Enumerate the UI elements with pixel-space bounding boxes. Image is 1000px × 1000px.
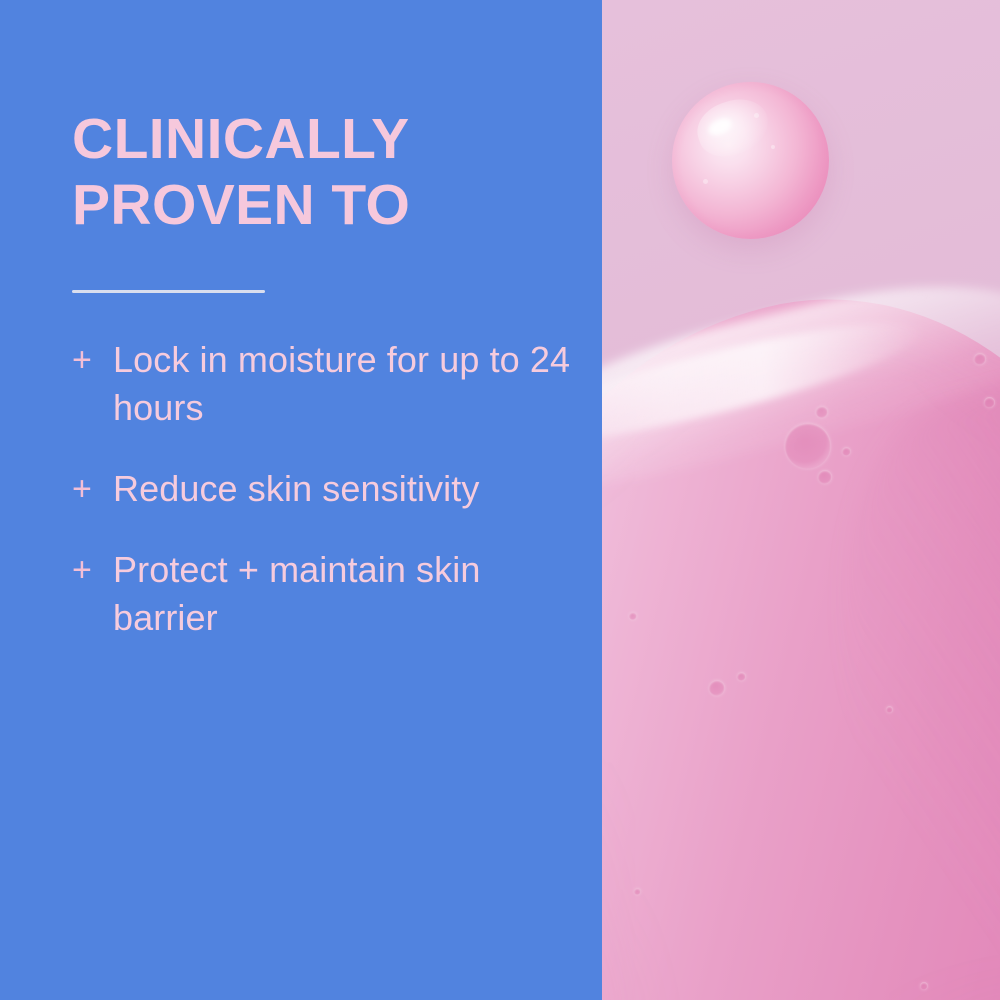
page-title-line-1: CLINICALLY	[72, 106, 552, 172]
sphere-bubble-speck	[771, 145, 775, 149]
gel-bubble	[818, 470, 832, 484]
page-title: CLINICALLY PROVEN TO	[72, 106, 552, 238]
gel-bubble	[920, 982, 928, 990]
gel-bubble	[737, 672, 746, 681]
gel-bubble	[709, 680, 725, 696]
page-title-line-2: PROVEN TO	[72, 172, 552, 238]
gel-bubble	[886, 706, 893, 713]
title-divider	[72, 290, 265, 293]
list-item-label: Reduce skin sensitivity	[113, 465, 572, 513]
gel-blob-swatch	[602, 236, 1000, 1000]
copy-panel: CLINICALLY PROVEN TO + Lock in moisture …	[0, 0, 602, 1000]
list-item: + Reduce skin sensitivity	[72, 465, 572, 513]
product-image-panel	[602, 0, 1000, 1000]
plus-marker-icon: +	[72, 465, 102, 513]
gel-bubble	[629, 612, 637, 620]
list-item-label: Protect + maintain skin barrier	[113, 546, 572, 642]
plus-marker-icon: +	[72, 546, 102, 594]
promo-canvas: CLINICALLY PROVEN TO + Lock in moisture …	[0, 0, 1000, 1000]
gel-bubble	[984, 397, 995, 408]
list-item-label: Lock in moisture for up to 24 hours	[113, 336, 572, 432]
plus-marker-icon: +	[72, 336, 102, 384]
gel-droplet-sphere-icon	[672, 82, 829, 239]
gel-bubble	[842, 447, 851, 456]
benefits-list: + Lock in moisture for up to 24 hours + …	[72, 336, 572, 642]
list-item: + Protect + maintain skin barrier	[72, 546, 572, 642]
gel-bubble	[816, 406, 828, 418]
list-item: + Lock in moisture for up to 24 hours	[72, 336, 572, 432]
gel-bubble	[634, 888, 641, 895]
gel-bubble	[785, 423, 831, 469]
gel-bubble	[974, 353, 986, 365]
